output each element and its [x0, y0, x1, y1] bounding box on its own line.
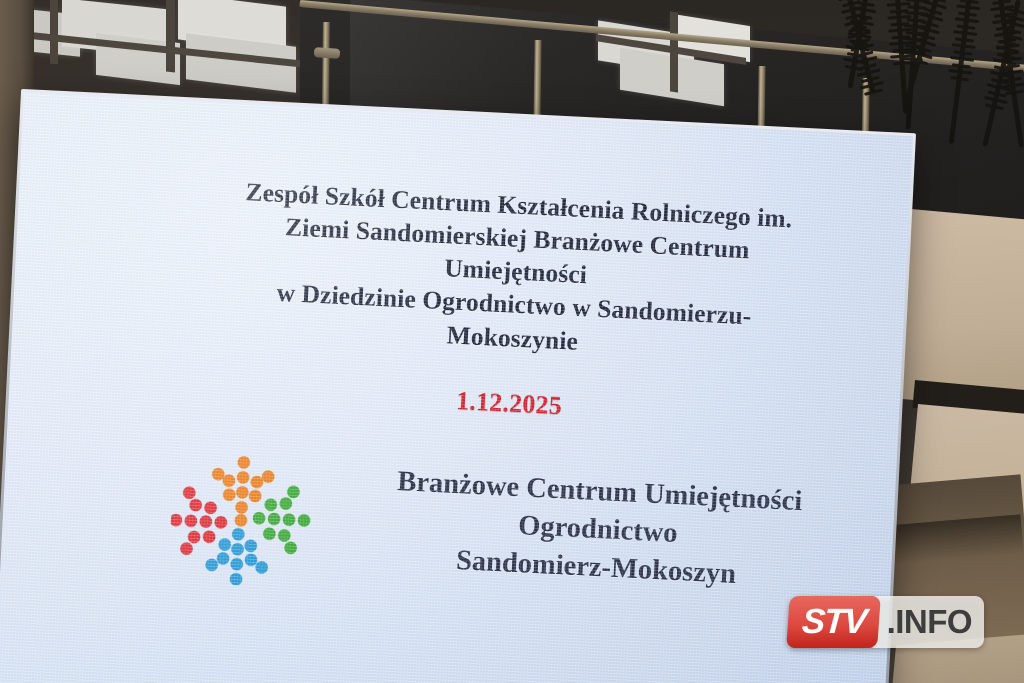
slide-title: Zespół Szkół Centrum Kształcenia Rolnicz… — [192, 173, 839, 370]
screenshot-root: Zespół Szkół Centrum Kształcenia Rolnicz… — [0, 0, 1024, 683]
watermark-suffix: .INFO — [867, 596, 985, 648]
presentation-slide: Zespół Szkół Centrum Kształcenia Rolnicz… — [0, 92, 913, 683]
led-display[interactable]: Zespół Szkół Centrum Kształcenia Rolnicz… — [0, 92, 913, 683]
slide-date: 1.12.2025 — [189, 373, 830, 435]
stv-info-watermark: STV .INFO — [788, 596, 984, 648]
railing-clamp — [314, 47, 341, 59]
bcu-dot-burst-logo-icon — [168, 452, 314, 589]
ceiling-mullion — [670, 11, 678, 92]
ceiling-mullion — [50, 0, 58, 64]
watermark-brand: STV — [786, 596, 880, 648]
slide-subtitle: Branżowe Centrum Umiejętności Ogrodnictw… — [330, 460, 865, 600]
display-surface[interactable]: Zespół Szkół Centrum Kształcenia Rolnicz… — [0, 92, 913, 683]
ceiling-mullion — [166, 0, 175, 72]
